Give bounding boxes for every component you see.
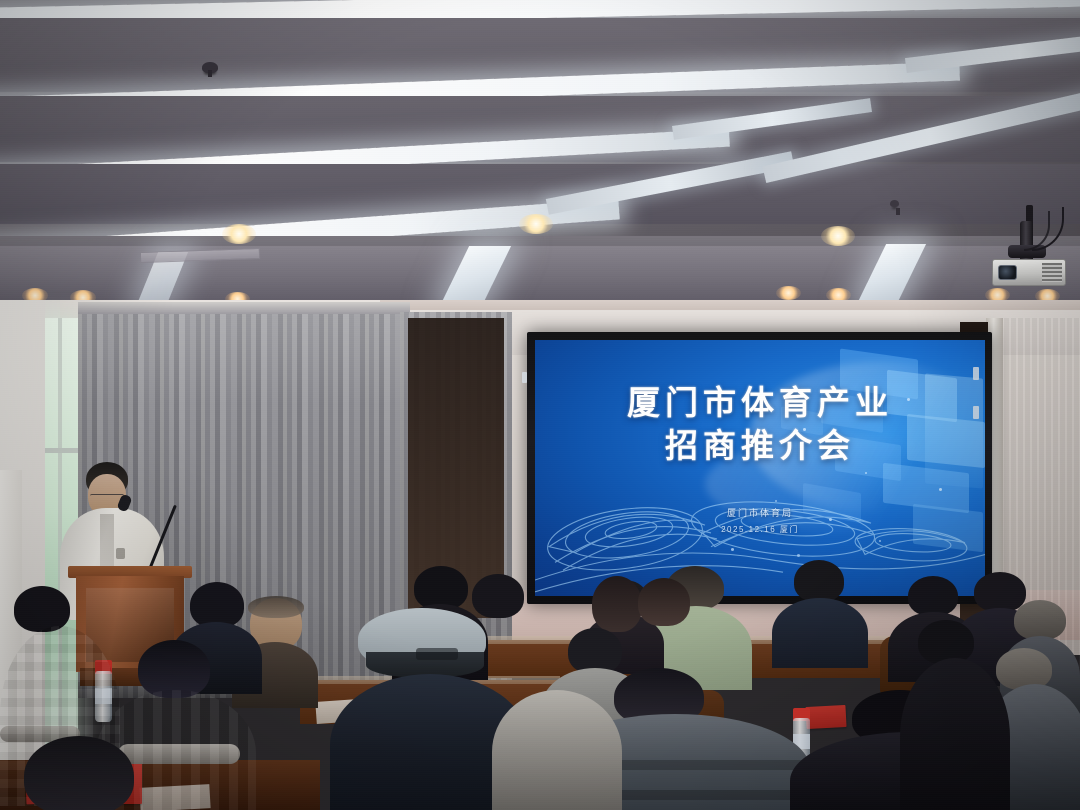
presenter-glasses-icon xyxy=(90,494,124,498)
slide-title-block: 厦门市体育产业 招商推介会 xyxy=(535,382,985,468)
attendee-shoulders xyxy=(492,690,622,810)
screen-bezel-indicator-2 xyxy=(973,406,979,419)
attendee-black-right-edge xyxy=(900,620,1010,810)
attendee-hair xyxy=(1014,600,1066,640)
ceiling-projector xyxy=(980,205,1080,297)
smoke-detector-icon xyxy=(202,62,218,73)
downlight-2 xyxy=(519,214,553,234)
attendee-light-grey-left xyxy=(492,690,622,810)
attendee-hair xyxy=(24,736,134,810)
slide-sparkle xyxy=(865,472,867,474)
projector-lens-icon xyxy=(998,265,1017,280)
slide-organizer: 厦门市体育局 xyxy=(535,506,985,519)
smoke-detector-icon-2 xyxy=(890,200,899,207)
slide-subtitle-block: 厦门市体育局 2025.12.16 厦门 xyxy=(535,506,985,535)
downlight-7 xyxy=(776,286,801,300)
attendee-hair xyxy=(918,620,974,664)
screen-bezel-indicator-1 xyxy=(973,367,979,380)
presenter-badge xyxy=(116,548,125,559)
attendee-hair xyxy=(908,576,958,616)
ceiling xyxy=(0,0,1080,330)
projector-vent xyxy=(1042,263,1062,282)
slide-title-line2: 招商推介会 xyxy=(535,425,985,468)
attendee-shoulders xyxy=(772,598,868,668)
wall-accent-band xyxy=(380,300,1080,310)
attendee-navy-suit xyxy=(772,560,868,664)
cap-strap xyxy=(416,648,458,660)
downlight-3 xyxy=(821,226,855,246)
slide-date-place: 2025.12.16 厦门 xyxy=(535,524,985,535)
downlight-1 xyxy=(222,224,256,244)
slide-title-line1: 厦门市体育产业 xyxy=(535,382,985,425)
conference-photo: 厦门市体育产业 招商推介会 厦门市体育局 2025.12.16 厦门 xyxy=(0,0,1080,810)
baseball-cap xyxy=(358,608,486,684)
attendee-hair xyxy=(638,578,690,626)
curtain-rail xyxy=(78,302,410,314)
attendee-shoulders xyxy=(900,658,1010,810)
attendee-hair xyxy=(794,560,844,602)
screen-bezel-indicator-3 xyxy=(522,372,527,383)
led-video-wall[interactable]: 厦门市体育产业 招商推介会 厦门市体育局 2025.12.16 厦门 xyxy=(535,340,985,596)
attendee-bottom-left-head xyxy=(24,736,134,810)
